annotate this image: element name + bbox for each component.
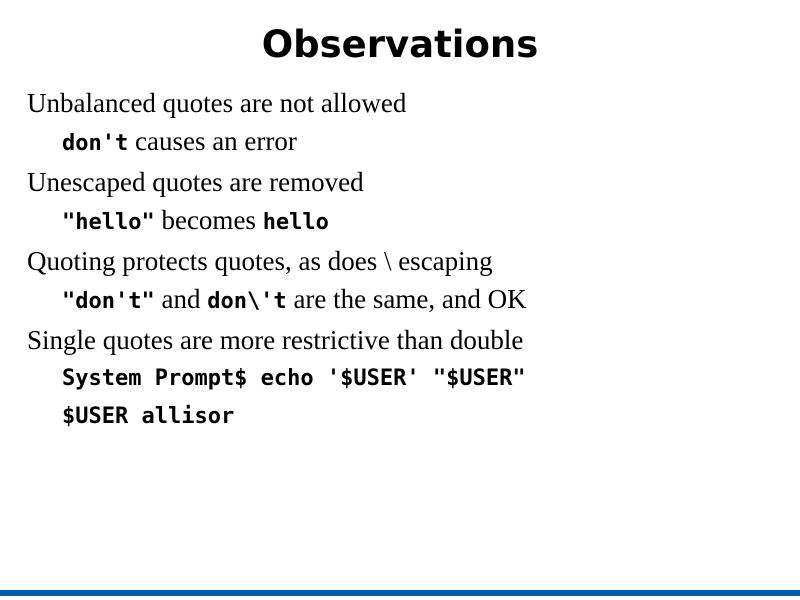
inline-text: Quoting protects quotes, as does \ escap…: [27, 246, 493, 276]
inline-text: becomes: [155, 205, 263, 235]
inline-text: and: [155, 284, 207, 314]
inline-code: $USER allisor: [62, 404, 234, 429]
inline-text: are the same, and OK: [287, 284, 527, 314]
presentation-slide: Observations Unbalanced quotes are not a…: [0, 0, 800, 600]
example-line: System Prompt$ echo '$USER' "$USER": [27, 359, 787, 397]
inline-code: "hello": [62, 210, 155, 235]
example-line: "don't" and don\'t are the same, and OK: [27, 280, 787, 321]
inline-text: Unbalanced quotes are not allowed: [27, 88, 406, 118]
inline-text: causes an error: [128, 126, 297, 156]
statement-line: Unbalanced quotes are not allowed: [27, 84, 787, 122]
statement-line: Single quotes are more restrictive than …: [27, 321, 787, 359]
inline-code: don't: [62, 131, 128, 156]
example-line: $USER allisor: [27, 397, 787, 435]
inline-code: "don't": [62, 289, 155, 314]
page-title: Observations: [0, 22, 800, 68]
inline-code: don\'t: [207, 289, 286, 314]
inline-code: hello: [263, 210, 329, 235]
statement-line: Quoting protects quotes, as does \ escap…: [27, 242, 787, 280]
statement-line: Unescaped quotes are removed: [27, 163, 787, 201]
footer-accent-bar: [0, 590, 800, 596]
inline-text: Single quotes are more restrictive than …: [27, 325, 523, 355]
inline-code: System Prompt$ echo '$USER' "$USER": [62, 366, 526, 391]
example-line: "hello" becomes hello: [27, 201, 787, 242]
inline-text: Unescaped quotes are removed: [27, 167, 364, 197]
slide-body: Unbalanced quotes are not alloweddon't c…: [27, 84, 787, 435]
example-line: don't causes an error: [27, 122, 787, 163]
